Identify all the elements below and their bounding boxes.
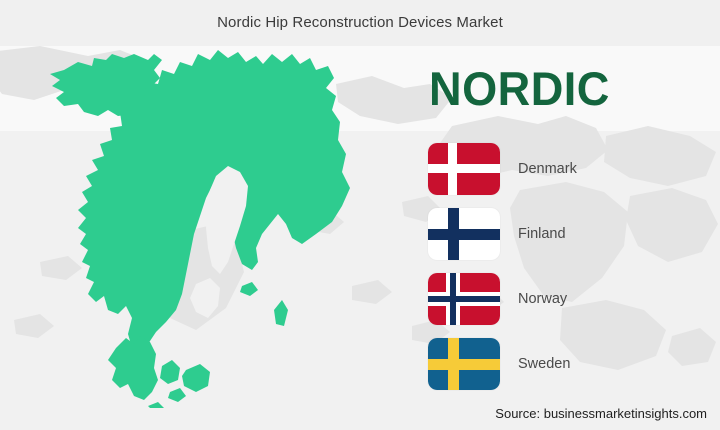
flag-norway-icon [428, 273, 500, 325]
legend-item-finland[interactable]: Finland [428, 201, 708, 266]
country-legend: Denmark Finland [428, 136, 708, 396]
legend-label-denmark: Denmark [518, 161, 577, 177]
legend-label-sweden: Sweden [518, 356, 570, 372]
infographic-canvas: Nordic Hip Reconstruction Devices Market… [0, 0, 720, 430]
source-attribution: Source: businessmarketinsights.com [495, 406, 707, 421]
legend-label-norway: Norway [518, 291, 567, 307]
page-title: Nordic Hip Reconstruction Devices Market [0, 0, 720, 46]
nordic-highlight-map [20, 48, 420, 408]
legend-item-norway[interactable]: Norway [428, 266, 708, 331]
region-heading: NORDIC [429, 64, 610, 114]
flag-sweden-icon [428, 338, 500, 390]
legend-item-sweden[interactable]: Sweden [428, 331, 708, 396]
legend-item-denmark[interactable]: Denmark [428, 136, 708, 201]
flag-denmark-icon [428, 143, 500, 195]
flag-finland-icon [428, 208, 500, 260]
legend-label-finland: Finland [518, 226, 566, 242]
